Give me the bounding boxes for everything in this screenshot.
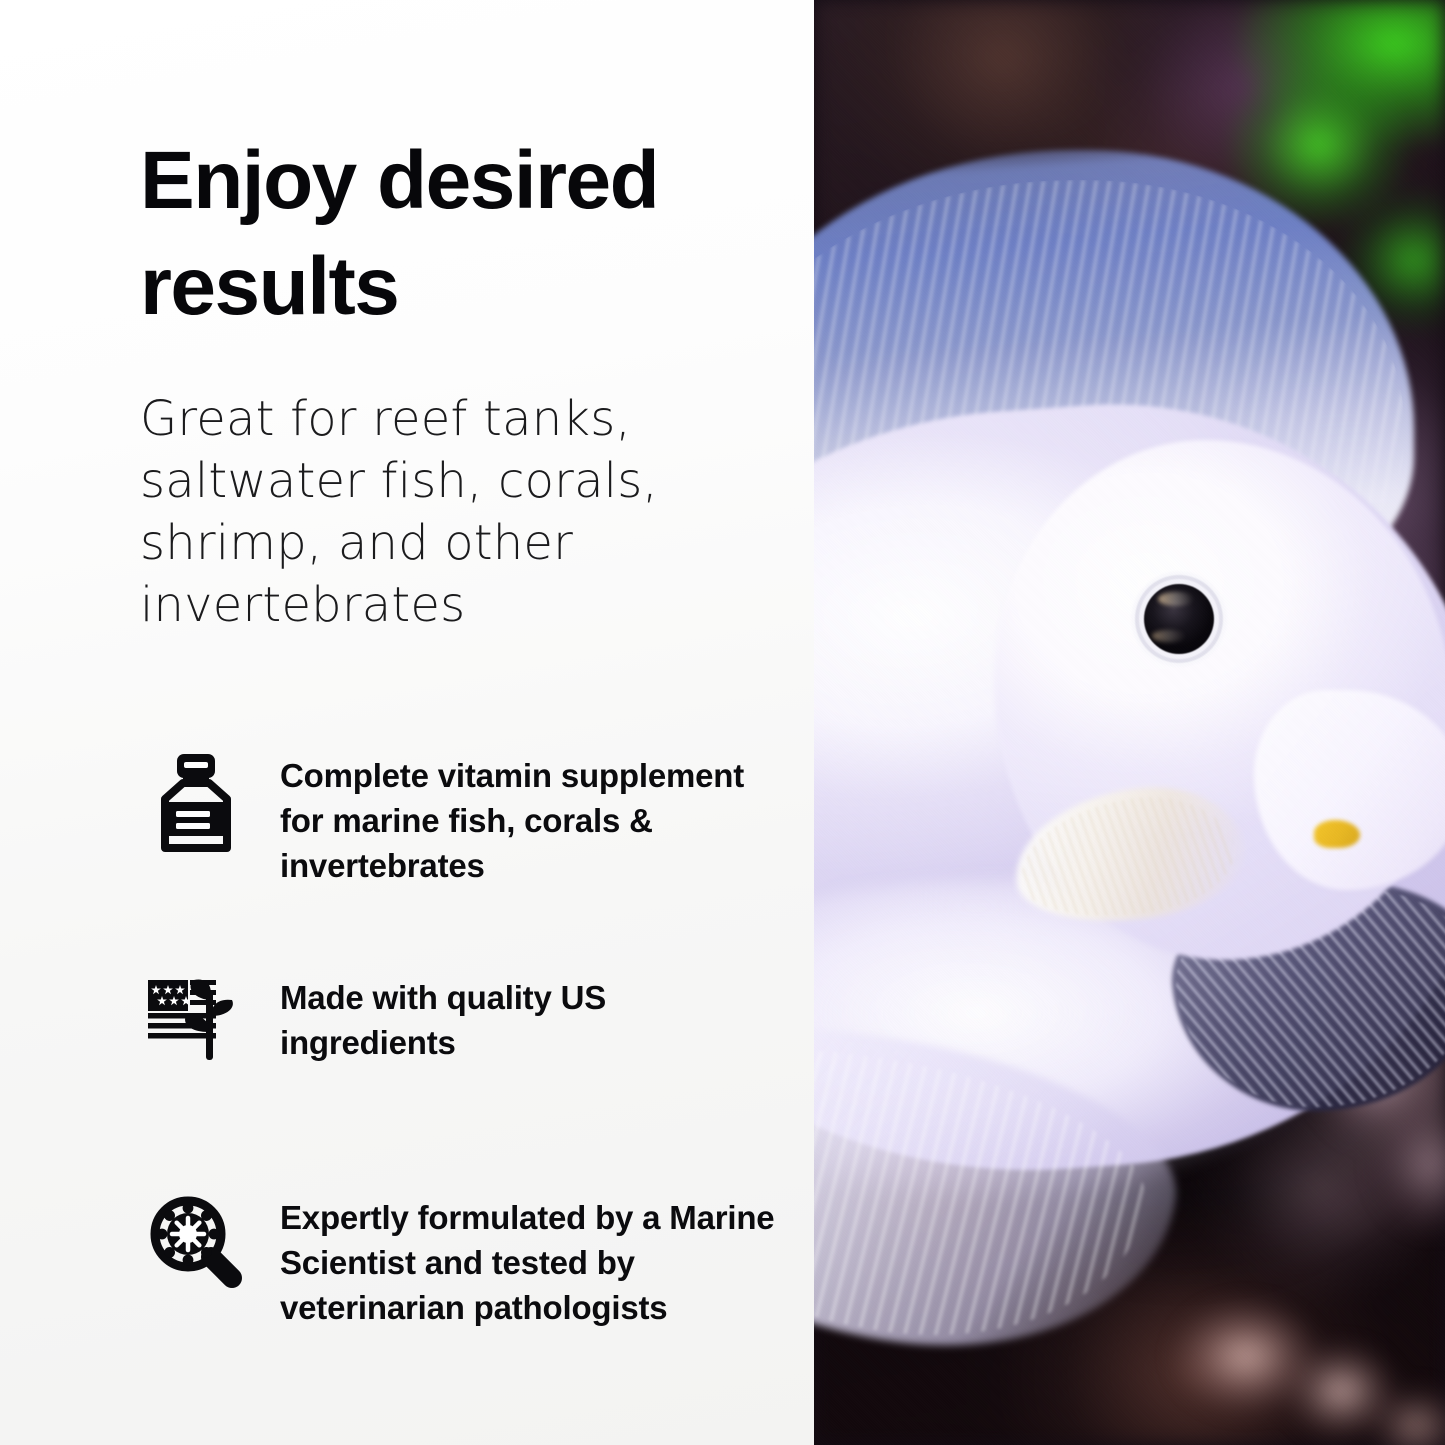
fish-eye-highlight xyxy=(1158,592,1194,606)
feature-item-vitamin-supplement: Complete vitamin supplement for marine f… xyxy=(140,748,790,888)
feature-label: Expertly formulated by a Marine Scientis… xyxy=(252,1190,790,1330)
fish-eye-highlight-lower xyxy=(1152,630,1186,642)
magnifier-microbe-icon xyxy=(140,1190,252,1294)
feature-item-us-ingredients: Made with quality US ingredients xyxy=(140,970,790,1074)
supplement-bottle-icon xyxy=(140,748,252,852)
product-lifestyle-photo xyxy=(814,0,1445,1445)
left-content-panel: Enjoy desired results Great for reef tan… xyxy=(0,0,814,1445)
subheadline-text: Great for reef tanks, saltwater fish, co… xyxy=(140,388,760,636)
feature-label: Made with quality US ingredients xyxy=(252,970,790,1065)
feature-label: Complete vitamin supplement for marine f… xyxy=(252,748,790,888)
page-title: Enjoy desired results xyxy=(140,128,800,340)
product-feature-panel: Enjoy desired results Great for reef tan… xyxy=(0,0,1445,1445)
fish-lip xyxy=(1314,820,1360,848)
feature-item-expert-formulation: Expertly formulated by a Marine Scientis… xyxy=(140,1190,790,1330)
pink-coral-foreground xyxy=(1144,1230,1445,1445)
usa-flag-plant-icon xyxy=(140,970,252,1074)
